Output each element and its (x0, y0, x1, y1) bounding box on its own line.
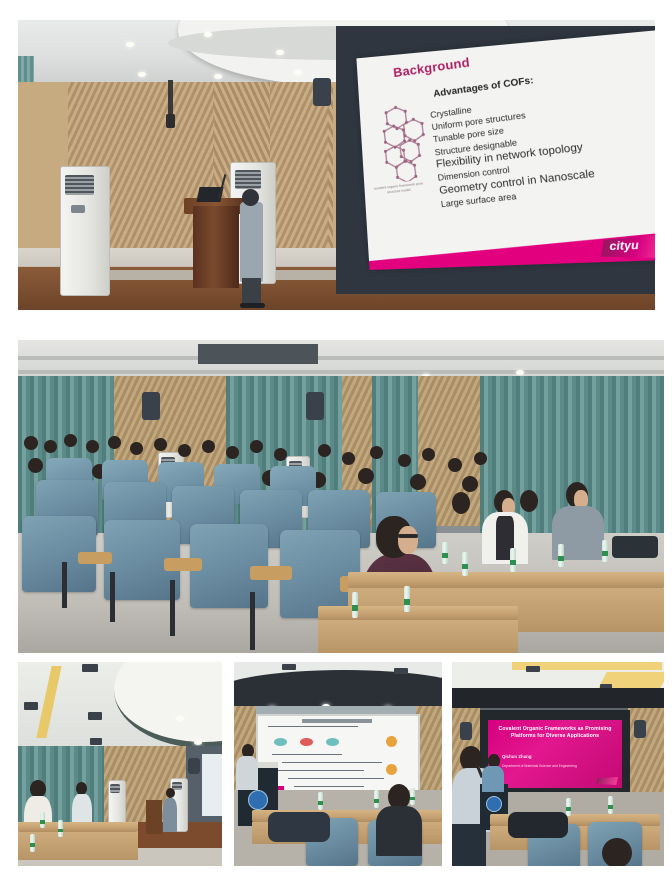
audience-head (108, 436, 121, 449)
wall-speaker-icon (142, 392, 160, 420)
ac-vent (235, 170, 261, 189)
audience-body (376, 806, 422, 856)
scheme-node (326, 738, 339, 746)
coat-on-seat (508, 812, 568, 838)
water-bottle-icon (462, 552, 468, 576)
ac-unit-icon (60, 166, 110, 296)
water-bottle-icon (404, 586, 410, 612)
water-bottle-icon (352, 592, 358, 618)
speaker-person-body (240, 202, 263, 282)
ac-vent (65, 175, 94, 195)
downlight-icon (176, 716, 184, 721)
title-slide-title: Covalent Organic Frameworks as Promising… (494, 726, 616, 740)
scheme-node (274, 738, 287, 746)
presentation-slide: Background Advantages of COFs: Crystalli… (356, 29, 655, 270)
seat-leg (62, 562, 67, 608)
wall-speaker-icon (313, 78, 331, 106)
wall-speaker-icon (634, 720, 646, 738)
photo-panel-bottom-left: Wide view of the hall with a woman speak… (18, 662, 222, 866)
wall-speaker-icon (188, 758, 200, 774)
speaker-person-head (242, 189, 259, 206)
audience-body (482, 766, 504, 792)
wall-speaker-icon (306, 392, 324, 420)
pendant-light-icon (168, 80, 173, 116)
downlight-icon (194, 740, 202, 745)
collage-sheet: Speaker presenting at a podium in a lect… (0, 0, 672, 885)
seat-leg (110, 572, 115, 622)
ceiling-vent (526, 666, 540, 672)
ceiling-recess (198, 344, 318, 364)
audience-head (24, 436, 38, 450)
water-bottle-icon (374, 790, 379, 808)
title-slide: Covalent Organic Frameworks as Promising… (488, 720, 622, 788)
presenter-body (163, 798, 177, 832)
downlight-icon (214, 74, 222, 79)
audience-head (474, 452, 487, 465)
slide-title: Background (393, 55, 471, 80)
downlight-icon (276, 50, 284, 55)
audience-head (370, 446, 383, 459)
audience-head (130, 442, 143, 455)
speaker-person-legs (242, 278, 261, 304)
water-bottle-icon (30, 834, 35, 852)
water-bottle-icon (608, 796, 613, 814)
water-bottle-icon (318, 792, 323, 810)
led-display-screen (256, 714, 420, 794)
water-bottle-icon (566, 798, 571, 816)
downlight-icon (138, 72, 146, 77)
water-bottle-icon (510, 548, 516, 572)
audience-head (250, 440, 263, 453)
slide-subtitle: Advantages of COFs: (433, 74, 534, 99)
downlight-icon (126, 42, 134, 47)
downlight-icon (204, 32, 212, 37)
title-slide-affiliation: Department of Materials Science and Engi… (502, 764, 577, 769)
downlight-icon (516, 370, 524, 375)
audience-head (202, 440, 215, 453)
ceiling-vent (24, 702, 38, 710)
podium (193, 206, 239, 288)
cityu-logo-text: cityu (609, 239, 639, 253)
ac-vent (110, 784, 120, 793)
audience-head (154, 438, 167, 451)
ceiling-slat (18, 356, 664, 360)
audience-head (462, 476, 478, 492)
conference-table (318, 606, 518, 620)
audience-head (178, 444, 191, 457)
water-bottle-icon (58, 820, 63, 837)
presenter-legs (452, 824, 486, 866)
scheme-node (386, 736, 397, 747)
audience-head (318, 444, 331, 457)
speaker-person-shoe (251, 303, 265, 308)
photo-panel-bottom-middle: Presenter at a podium beside a large LED… (234, 662, 442, 866)
eyeglasses-icon (398, 534, 418, 538)
cityu-logo (596, 777, 618, 785)
water-bottle-icon (410, 788, 415, 805)
cof-molecule-diagram (371, 100, 432, 185)
audience-head (226, 446, 239, 459)
presenter-body (236, 756, 258, 790)
audience-head (410, 474, 426, 490)
water-bottle-icon (602, 540, 608, 562)
conference-table (348, 572, 664, 588)
wood-wall-panel (270, 82, 328, 257)
conference-table-front (318, 620, 518, 653)
ceiling-vent (394, 668, 408, 674)
bag (612, 536, 658, 558)
projection-screen (202, 754, 222, 816)
title-slide-speaker: Qichun Zhang (502, 754, 532, 759)
ceiling-slat (18, 370, 664, 374)
scheme-title (302, 719, 372, 723)
audience-head (28, 458, 43, 473)
water-bottle-icon (40, 812, 45, 828)
seat-armrest (250, 566, 292, 580)
ceiling-vent (88, 712, 102, 720)
conference-table (18, 822, 138, 832)
audience-head (422, 448, 435, 461)
slide-bullet-list: Crystalline Uniform pore structures Tuna… (429, 88, 597, 210)
scheme-node (386, 764, 397, 775)
seat-leg (250, 592, 255, 650)
conference-table-front (18, 832, 138, 860)
seat-armrest (164, 558, 202, 571)
downlight-icon (294, 70, 302, 75)
audience-head (86, 440, 99, 453)
photo-panel-bottom-right: Presenter with microphone in front of th… (452, 662, 664, 866)
university-emblem-icon (486, 796, 502, 812)
seat-leg (170, 580, 175, 636)
ceiling-vent (282, 664, 296, 670)
photo-panel-top: Speaker presenting at a podium in a lect… (18, 20, 655, 310)
photo-panel-middle: Seated audience of students and faculty … (18, 340, 664, 653)
audience-head (64, 434, 77, 447)
audience-head (274, 448, 287, 461)
university-emblem-icon (248, 790, 268, 810)
seat-armrest (78, 552, 112, 564)
audience-head (448, 458, 462, 472)
audience-head (520, 490, 538, 512)
ceiling-vent (90, 738, 102, 745)
audience-head (398, 454, 411, 467)
podium (146, 800, 162, 834)
audience-head (44, 440, 57, 453)
ac-panel (71, 205, 85, 213)
audience-head (452, 492, 470, 514)
scheme-node (300, 738, 313, 746)
presenter-head (166, 788, 175, 798)
audience-head (602, 838, 632, 866)
water-bottle-icon (558, 544, 564, 567)
coat-on-seat (268, 812, 330, 842)
ceiling-vent (82, 664, 98, 672)
wall-speaker-icon (460, 722, 472, 740)
water-bottle-icon (442, 542, 448, 564)
audience-head (358, 468, 374, 484)
projector-screen: Background Advantages of COFs: Crystalli… (336, 26, 655, 294)
audience-head (342, 452, 355, 465)
